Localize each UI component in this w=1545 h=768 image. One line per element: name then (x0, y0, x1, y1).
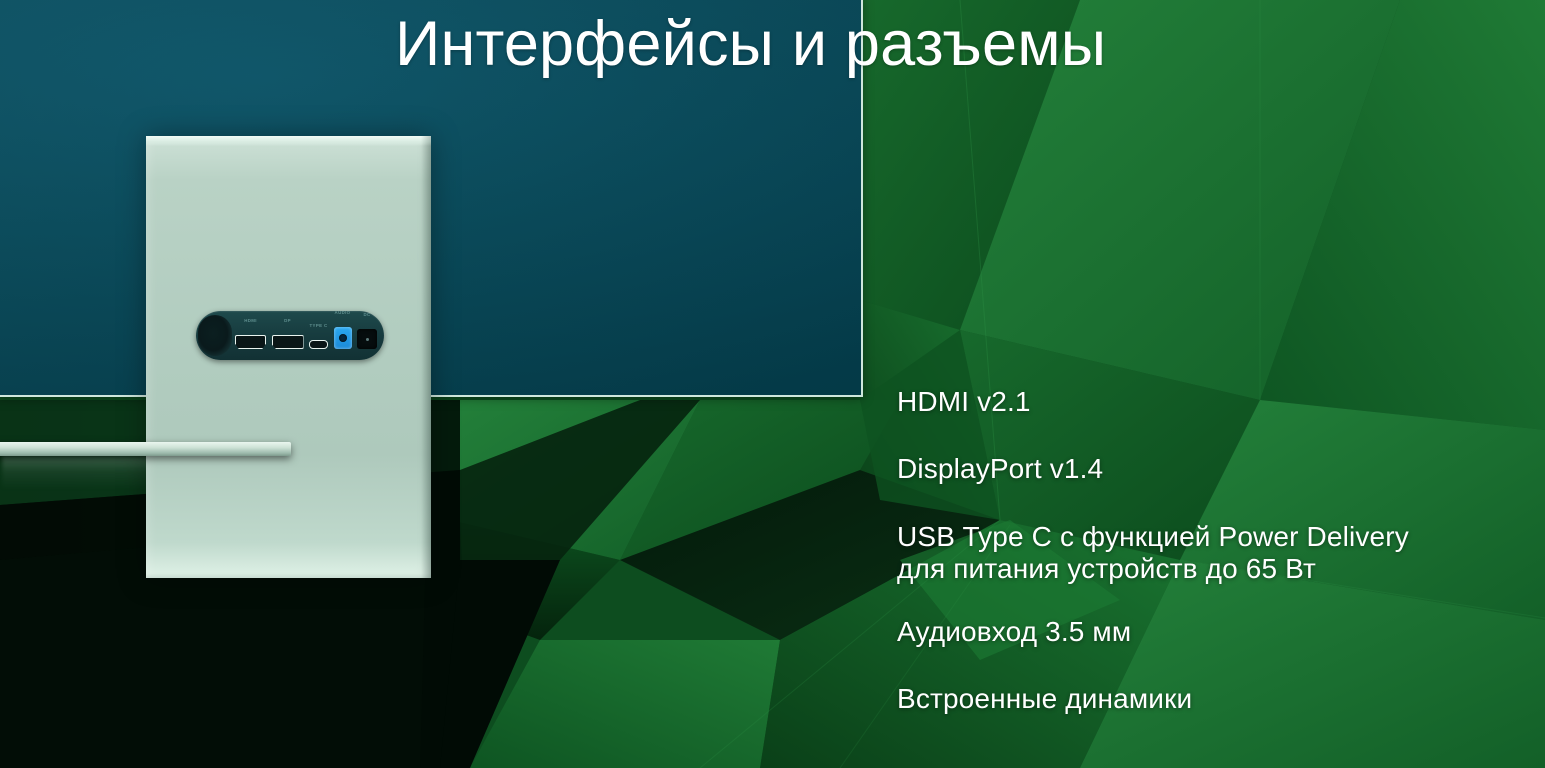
hdmi-port-icon (235, 335, 266, 349)
feature-text: DisplayPort v1.4 (897, 453, 1103, 484)
port-typec-label: TYPE C (310, 323, 328, 328)
port-dp-label: DP (284, 318, 291, 323)
port-audio: AUDIO (334, 327, 352, 349)
port-audio-label: AUDIO (335, 310, 351, 315)
port-dp: DP (272, 335, 304, 349)
page-title: Интерфейсы и разъемы (395, 7, 1106, 81)
feature-text-line2: для питания устройств до 65 Вт (897, 553, 1517, 585)
port-typec: TYPE C (309, 340, 328, 349)
list-item: DisplayPort v1.4 (897, 453, 1517, 485)
port-panel-end-cap (198, 315, 232, 356)
port-hdmi: HDMI (235, 335, 266, 349)
list-item: HDMI v2.1 (897, 386, 1517, 418)
port-hdmi-label: HDMI (244, 318, 257, 323)
port-dc: DC (357, 329, 377, 349)
list-item: Аудиовход 3.5 мм (897, 616, 1517, 648)
feature-text: HDMI v2.1 (897, 386, 1031, 417)
list-item: Встроенные динамики (897, 683, 1517, 715)
displayport-port-icon (272, 335, 304, 349)
list-item: USB Type C с функцией Power Delivery для… (897, 521, 1517, 586)
feature-list: HDMI v2.1 DisplayPort v1.4 USB Type C с … (897, 386, 1517, 716)
feature-text: USB Type C с функцией Power Delivery (897, 521, 1409, 552)
usb-type-c-port-icon (309, 340, 328, 349)
slide-root: Интерфейсы и разъемы HDMI DP TYPE C AUDI… (0, 0, 1545, 768)
port-dc-label: DC (363, 312, 370, 317)
dc-power-port-icon (357, 329, 377, 349)
monitor-base (0, 442, 291, 456)
audio-jack-port-icon (334, 327, 352, 349)
feature-text: Встроенные динамики (897, 683, 1192, 714)
feature-text: Аудиовход 3.5 мм (897, 616, 1131, 647)
monitor-port-panel: HDMI DP TYPE C AUDIO DC (196, 311, 384, 360)
